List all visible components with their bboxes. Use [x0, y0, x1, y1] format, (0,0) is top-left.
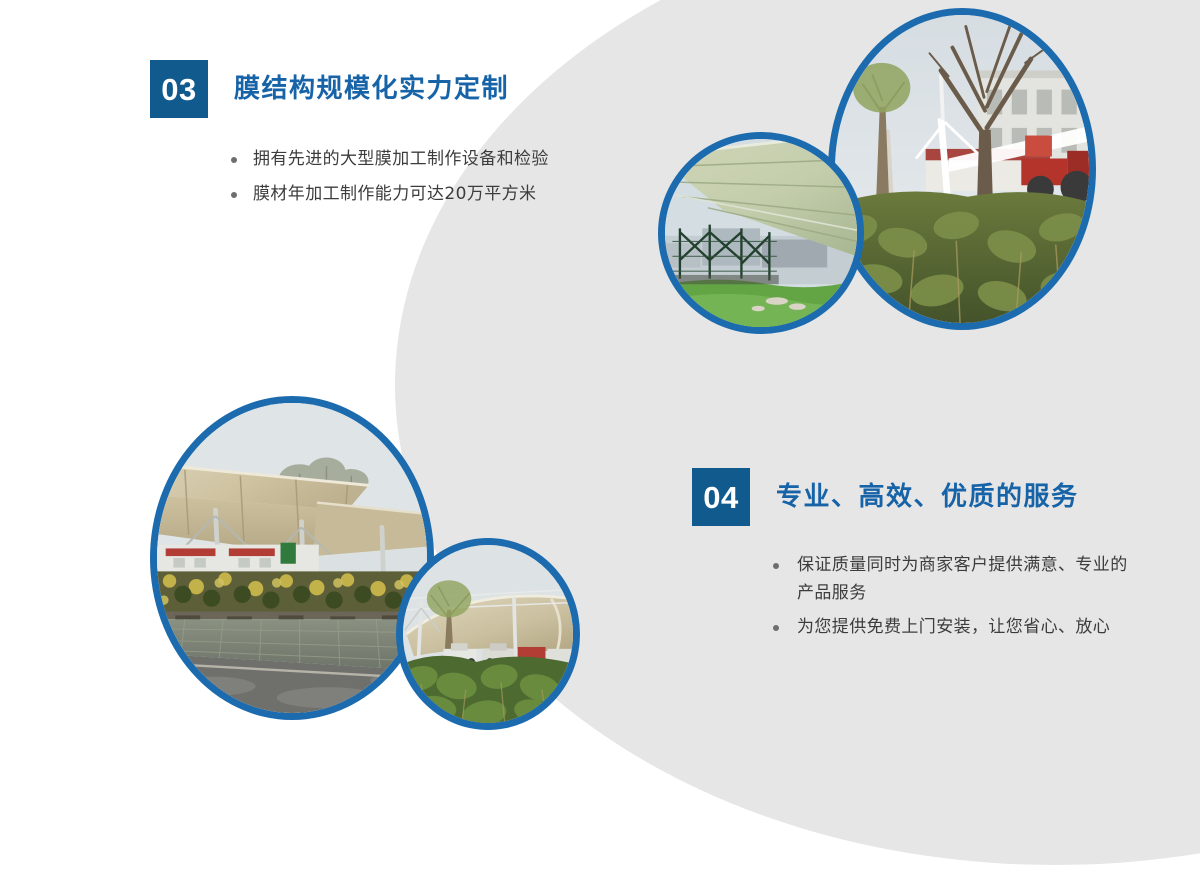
- bullet-text: 膜材年加工制作能力可达20万平方米: [253, 184, 536, 204]
- bullet-item: 保证质量同时为商家客户提供满意、专业的产品服务: [771, 552, 1141, 607]
- photo-membrane-lot-illustration: [403, 545, 573, 723]
- bullet-text: 为您提供免费上门安装，让您省心、放心: [797, 617, 1110, 637]
- feature-heading-03: 03 膜结构规模化实力定制: [150, 60, 549, 118]
- feature-title-04: 专业、高效、优质的服务: [776, 483, 1079, 512]
- bullet-text: 拥有先进的大型膜加工制作设备和检验: [253, 149, 549, 169]
- photo-plant-yard-illustration: [835, 15, 1089, 323]
- bullet-dot-icon: [231, 157, 237, 163]
- feature-block-03: 03 膜结构规模化实力定制 拥有先进的大型膜加工制作设备和检验 膜材年加工制作能…: [150, 60, 549, 208]
- feature-title-03: 膜结构规模化实力定制: [234, 75, 509, 104]
- bullet-item: 膜材年加工制作能力可达20万平方米: [229, 181, 549, 209]
- slide-canvas: 03 膜结构规模化实力定制 拥有先进的大型膜加工制作设备和检验 膜材年加工制作能…: [0, 0, 1200, 885]
- feature-number-badge-03: 03: [150, 60, 208, 118]
- feature-bullet-list-03: 拥有先进的大型膜加工制作设备和检验 膜材年加工制作能力可达20万平方米: [229, 146, 549, 208]
- photo-circle-carport: [150, 396, 434, 720]
- photo-canopy-field-illustration: [665, 139, 857, 327]
- feature-bullet-list-04: 保证质量同时为商家客户提供满意、专业的产品服务 为您提供免费上门安装，让您省心、…: [771, 552, 1141, 642]
- bullet-item: 为您提供免费上门安装，让您省心、放心: [771, 614, 1141, 642]
- photo-circle-membrane-lot: [396, 538, 580, 730]
- feature-heading-04: 04 专业、高效、优质的服务: [692, 468, 1141, 526]
- bullet-item: 拥有先进的大型膜加工制作设备和检验: [229, 146, 549, 174]
- bullet-dot-icon: [773, 625, 779, 631]
- bullet-dot-icon: [231, 192, 237, 198]
- feature-block-04: 04 专业、高效、优质的服务 保证质量同时为商家客户提供满意、专业的产品服务 为…: [692, 468, 1141, 642]
- feature-number-badge-04: 04: [692, 468, 750, 526]
- photo-carport-illustration: [157, 403, 427, 713]
- bullet-text: 保证质量同时为商家客户提供满意、专业的产品服务: [797, 555, 1128, 603]
- bullet-dot-icon: [773, 563, 779, 569]
- photo-circle-plant-yard: [828, 8, 1096, 330]
- photo-circle-canopy-field: [658, 132, 864, 334]
